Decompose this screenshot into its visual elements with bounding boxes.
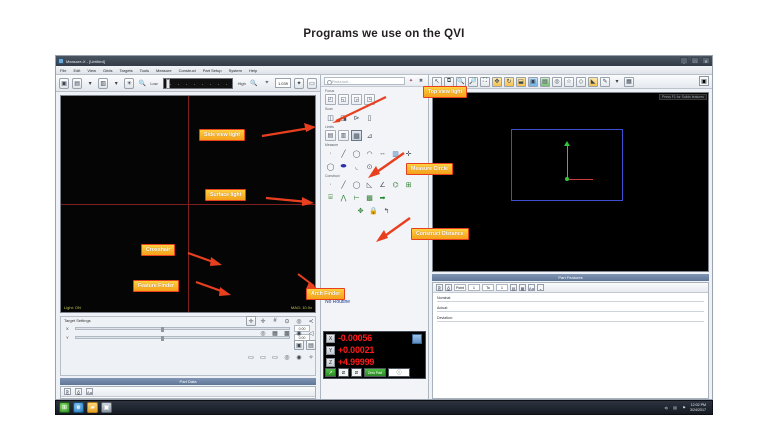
close-icon[interactable]: ✖: [417, 77, 425, 85]
side-view-icon[interactable]: ◎: [552, 77, 562, 87]
video-tools-row-4[interactable]: ▭ ▭ ▭ ◎ ◉ ✧: [246, 352, 316, 362]
color-icon[interactable]: ◣: [588, 77, 598, 87]
arrow-side-view-light: [258, 120, 318, 146]
dro-axis-label-y[interactable]: Y: [326, 346, 335, 355]
menu-item-system[interactable]: System: [229, 68, 242, 73]
menu-item-help[interactable]: Help: [249, 68, 257, 73]
callout-side-view-light: Side view light: [199, 129, 245, 141]
window-titlebar: Measure-X - [Untitled] _ □ ✕: [56, 56, 712, 66]
feature-from-field[interactable]: 1: [468, 284, 480, 291]
cad-axis-y-arrow: [564, 141, 570, 146]
magnify-icon[interactable]: 🔍: [137, 78, 147, 89]
edge-tool-icon[interactable]: ▤: [306, 340, 316, 350]
c-span-icon[interactable]: ⋀: [338, 192, 349, 203]
start-button[interactable]: ⊞: [59, 402, 70, 413]
callout-surface-light: Surface light: [205, 189, 246, 201]
limit-b-icon[interactable]: ▥: [338, 130, 349, 141]
tool-palette-header[interactable]: Find a tool... ✦ ✖: [321, 75, 428, 87]
menu-item-file[interactable]: File: [60, 68, 66, 73]
magnification-value[interactable]: 1.039: [275, 78, 291, 88]
video-light-status: Light: ON: [64, 305, 81, 310]
zoom-fit-icon[interactable]: ⛶: [480, 77, 490, 87]
section-limits-label: Limits: [325, 125, 424, 129]
video-tools-row-2[interactable]: ◎ ▦ ▩ ◉ ◁: [258, 328, 316, 338]
part-features-panel[interactable]: ⎘ ⎙ Point 1 To 1 ▤ ▦ Aa ⌄ Nominal: Actua…: [432, 282, 709, 399]
cad-axis-y: [567, 145, 568, 179]
zoom-fit-icon[interactable]: ⌖: [262, 78, 272, 89]
go-icon[interactable]: ↗: [325, 368, 336, 377]
cad-view-column: ↖ ⧉ 🔍 🔎 ⛶ ✥ ↻ ⬓ ▣ ▤ ◎ ☆ ◇ ◣ ✎ ▾ ▦ ▣ Pre: [429, 75, 712, 400]
menu-item-measure[interactable]: Measure: [156, 68, 172, 73]
system-tray[interactable]: ◂) ▤ ⚑ 12:02 PM 3/24/2017: [663, 403, 709, 413]
front-view-icon[interactable]: ▤: [540, 77, 550, 87]
section-limits: Limits ▤ ▥ ▦ ⊿: [321, 123, 428, 141]
limit-c-icon[interactable]: ▦: [351, 130, 362, 141]
light-intensity-slider[interactable]: [163, 78, 233, 89]
slider-ticks: [170, 84, 230, 85]
measure-icon[interactable]: ✎: [600, 77, 610, 87]
snapshot-icon[interactable]: ✦: [294, 78, 304, 89]
video-tools-row-3[interactable]: ▣ ▤: [294, 340, 316, 350]
windows-taskbar[interactable]: ⊞ e ▰ ▣ ◂) ▤ ⚑ 12:02 PM 3/24/2017: [55, 400, 713, 415]
maximize-icon[interactable]: ▣: [699, 76, 709, 86]
feature-row-deviation: Deviation:: [437, 316, 704, 322]
pan-icon[interactable]: ✥: [492, 77, 502, 87]
search-input[interactable]: Find a tool...: [324, 77, 405, 85]
top-view-icon[interactable]: ▣: [528, 77, 538, 87]
arrow-top-view-light: [330, 95, 390, 125]
report-toolbar[interactable]: ⎘ ⎙ Aa: [61, 387, 315, 397]
maximize-button[interactable]: □: [691, 57, 699, 64]
cad-axis-x: [567, 179, 593, 180]
c-cross-icon[interactable]: ⊢: [351, 192, 362, 203]
zero-part-button[interactable]: Zero Part: [364, 368, 386, 377]
clock-date: 3/24/2017: [690, 408, 706, 413]
rect-c-icon[interactable]: ▭: [270, 352, 280, 362]
part-features-toolbar[interactable]: ⎘ ⎙ Point 1 To 1 ▤ ▦ Aa ⌄: [433, 283, 708, 293]
window-controls[interactable]: _ □ ✕: [680, 57, 710, 64]
callout-crosshair: Crosshair: [141, 244, 175, 256]
info-icon[interactable]: ⓘ: [388, 368, 410, 377]
menu-bar[interactable]: File Edit View Grids Targets Tools Measu…: [56, 66, 712, 75]
fan-icon[interactable]: ✧: [306, 352, 316, 362]
part-data-caption: Part Data: [60, 378, 316, 385]
callout-measure-circle: Measure Circle: [406, 163, 453, 175]
volume-icon[interactable]: ◂): [663, 405, 669, 411]
iso-view-icon[interactable]: ⬓: [516, 77, 526, 87]
c-arrow-icon[interactable]: ➡: [377, 192, 388, 203]
circle-tool-icon[interactable]: ◎: [258, 328, 268, 338]
print-icon[interactable]: ⎙: [75, 388, 82, 395]
menu-item-grids[interactable]: Grids: [103, 68, 113, 73]
hash-icon[interactable]: #: [270, 316, 280, 326]
limit-d-icon[interactable]: ⊿: [364, 130, 375, 141]
explorer-icon[interactable]: ▰: [87, 402, 98, 413]
rect-b-icon[interactable]: ▭: [258, 352, 268, 362]
c-grid-icon[interactable]: ▩: [364, 192, 375, 203]
feature-to-field[interactable]: 1: [496, 284, 508, 291]
rotate-icon[interactable]: ↻: [504, 77, 514, 87]
camera-minus-icon[interactable]: ▥: [98, 78, 108, 89]
record-icon[interactable]: ▭: [307, 78, 317, 89]
zoom-window-icon[interactable]: ⧉: [444, 77, 454, 87]
c-cylinder-icon[interactable]: ⌸: [325, 192, 336, 203]
page-title: Programs we use on the QVI: [0, 28, 768, 40]
grid-tool-icon[interactable]: ▦: [270, 328, 280, 338]
report-body: Routine Name Run # Date + Time Global, M…: [61, 397, 315, 399]
zoom-in-icon[interactable]: 🔍: [456, 77, 466, 87]
cad-origin-marker: [565, 177, 569, 181]
target-axis-label-x: X: [66, 326, 71, 331]
section-focus-label: Focus: [325, 89, 424, 93]
grid-icon[interactable]: ☆: [564, 77, 574, 87]
part-data-report[interactable]: ⎘ ⎙ Aa Routine Name Run # Date + Time Gl…: [60, 386, 316, 399]
close-button[interactable]: ✕: [702, 57, 710, 64]
dro-row-x: X -0.00056: [324, 332, 425, 344]
diag-icon[interactable]: ◁: [306, 328, 316, 338]
target-icon[interactable]: ⊙: [282, 316, 292, 326]
cad-3d-view[interactable]: Press F1 for Solids features: [432, 92, 709, 272]
dro-row-y: Y +0.00021: [324, 344, 425, 356]
dro-footer[interactable]: ↗ ⧄ ⧄ Zero Part ⓘ: [325, 367, 424, 377]
rect-a-icon[interactable]: ▭: [246, 352, 256, 362]
camera-add-icon[interactable]: ▤: [72, 78, 82, 89]
target-axis-label-y: Y: [66, 335, 71, 340]
y-zero-icon[interactable]: ⧄: [351, 368, 362, 377]
section-limits-icons[interactable]: ▤ ▥ ▦ ⊿: [325, 130, 424, 141]
taskbar-clock[interactable]: 12:02 PM 3/24/2017: [690, 403, 706, 413]
app-icon[interactable]: ▣: [101, 402, 112, 413]
crosshair-tool-icon[interactable]: ✛: [246, 316, 256, 326]
c-move-icon[interactable]: ✥: [355, 205, 366, 216]
window-title: Measure-X - [Untitled]: [58, 59, 105, 64]
flag-icon[interactable]: ⚑: [681, 405, 687, 411]
video-tools-grid[interactable]: ✛ ✛ # ⊙ ◎ ≺ ◎ ▦ ▩ ◉ ◁ ▣ ▤: [224, 316, 316, 362]
zoom-in-icon[interactable]: 🔍: [249, 78, 259, 89]
ellipse-icon[interactable]: ⬬: [338, 161, 349, 172]
c-point-icon[interactable]: ·: [325, 179, 336, 190]
section-measure-label: Measure: [325, 143, 424, 147]
arrow-construct-distance: [368, 215, 414, 245]
clock-time: 12:02 PM: [690, 403, 706, 408]
arrow-surface-light: [262, 186, 318, 212]
font-icon[interactable]: Aa: [86, 388, 93, 395]
pointer-icon[interactable]: ↖: [432, 77, 442, 87]
ring-b-icon[interactable]: ◉: [294, 352, 304, 362]
c-line-icon[interactable]: ╱: [338, 179, 349, 190]
arrow-crosshair: [186, 249, 226, 271]
minimize-button[interactable]: _: [680, 57, 688, 64]
video-tools-row-1[interactable]: ✛ ✛ # ⊙ ◎ ≺: [246, 316, 316, 326]
blob-tool-icon[interactable]: ▣: [294, 340, 304, 350]
feature-type-field[interactable]: Point: [454, 284, 466, 291]
menu-item-part-setup[interactable]: Part Setup: [203, 68, 222, 73]
print-icon[interactable]: ⎙: [445, 284, 452, 291]
dropdown-icon[interactable]: ▾: [612, 77, 622, 87]
target-slider-x-knob[interactable]: [161, 327, 164, 332]
ring-a-icon[interactable]: ◎: [282, 352, 292, 362]
copy-icon[interactable]: ⎘: [436, 284, 443, 291]
dropdown-icon[interactable]: ▾: [85, 78, 95, 89]
feature-row-nominal: Nominal:: [437, 296, 704, 302]
ie-icon[interactable]: e: [73, 402, 84, 413]
line-icon[interactable]: ╱: [338, 148, 349, 159]
dro-value-x: -0.00056: [338, 333, 372, 343]
round-icon[interactable]: ◯: [325, 161, 336, 172]
dro-display: X -0.00056 Y +0.00021 Z +4.99999 ↗ ⧄ ⧄ Z…: [323, 331, 426, 379]
video-mag-status: MAG: 10.0x: [291, 305, 312, 310]
dro-axis-label-x[interactable]: X: [326, 334, 335, 343]
callout-feature-finder: Feature Finder: [133, 280, 179, 292]
callout-arch-finder: Arch Finder: [306, 288, 345, 300]
section-construct-icons[interactable]: · ╱ ◯ ◺ ∠ ⌬ ⊞ ⌸ ⋀ ⊢ ▩ ➡: [325, 179, 424, 203]
zoom-out-icon[interactable]: 🔎: [468, 77, 478, 87]
menu-item-construct[interactable]: Construct: [179, 68, 196, 73]
video-toolbar[interactable]: ▣ ▤ ▾ ▥ ▾ ☀ 🔍 Low High 🔍 ⌖ 1.039 ✦ ▭: [56, 75, 320, 92]
light-high-label: High: [238, 81, 246, 86]
zero-all-icon[interactable]: [412, 334, 422, 344]
feature-finder-icon[interactable]: ◉: [294, 328, 304, 338]
light-low-label: Low: [150, 81, 157, 86]
arrow-measure-circle: [360, 150, 408, 182]
grid-view-icon[interactable]: ▦: [519, 284, 526, 291]
camera-icon[interactable]: ▣: [59, 78, 69, 89]
branch-icon[interactable]: ≺: [306, 316, 316, 326]
settings-icon[interactable]: ▦: [624, 77, 634, 87]
expand-icon[interactable]: ⌄: [537, 284, 544, 291]
target-slider-y-knob[interactable]: [161, 336, 164, 341]
arrow-feature-finder: [194, 276, 236, 300]
menu-item-edit[interactable]: Edit: [73, 68, 80, 73]
list-view-icon[interactable]: ▤: [510, 284, 517, 291]
layers-icon[interactable]: ◇: [576, 77, 586, 87]
menu-item-view[interactable]: View: [87, 68, 96, 73]
menu-item-targets[interactable]: Targets: [120, 68, 133, 73]
copy-icon[interactable]: ⎘: [64, 388, 71, 395]
callout-construct-distance: Construct Distance: [411, 228, 469, 240]
menu-item-tools[interactable]: Tools: [140, 68, 149, 73]
part-features-caption: Part Features: [432, 274, 709, 281]
plus-icon[interactable]: ✛: [258, 316, 268, 326]
point-icon[interactable]: ·: [325, 148, 336, 159]
pin-icon[interactable]: ✦: [407, 77, 415, 85]
dro-axis-label-z[interactable]: Z: [326, 358, 335, 367]
gear-icon[interactable]: ◎: [294, 316, 304, 326]
font-icon[interactable]: Aa: [528, 284, 535, 291]
cad-toolbar[interactable]: ↖ ⧉ 🔍 🔎 ⛶ ✥ ↻ ⬓ ▣ ▤ ◎ ☆ ◇ ◣ ✎ ▾ ▦ ▣: [429, 75, 712, 89]
feature-to-label: To: [482, 284, 494, 291]
slider-knob[interactable]: [166, 79, 170, 89]
network-icon[interactable]: ▤: [672, 405, 678, 411]
app-icon: [58, 58, 64, 64]
lamp-icon[interactable]: ☀: [124, 78, 134, 89]
pattern-tool-icon[interactable]: ▩: [282, 328, 292, 338]
cad-hint-text: Press F1 for Solids features: [659, 94, 707, 100]
x-zero-icon[interactable]: ⧄: [338, 368, 349, 377]
callout-top-view-light: Top view light: [423, 86, 467, 98]
limit-a-icon[interactable]: ▤: [325, 130, 336, 141]
dro-value-z: +4.99999: [338, 357, 374, 367]
dropdown2-icon[interactable]: ▾: [111, 78, 121, 89]
dro-value-y: +0.00021: [338, 345, 374, 355]
feature-row-actual: Actual:: [437, 306, 704, 312]
part-features-rows: Nominal: Actual: Deviation:: [433, 293, 708, 329]
